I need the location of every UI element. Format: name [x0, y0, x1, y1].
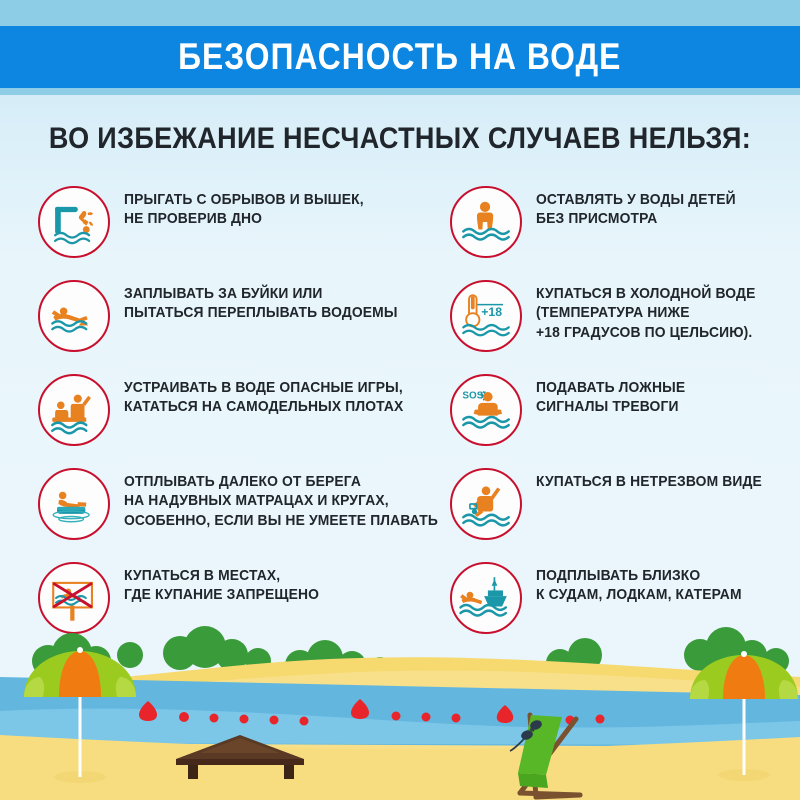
inflatable-mattress-icon	[38, 468, 110, 540]
left-column: ПРЫГАТЬ С ОБРЫВОВ И ВЫШЕК, НЕ ПРОВЕРИВ Д…	[38, 186, 408, 656]
list-item-text: ОСТАВЛЯТЬ У ВОДЫ ДЕТЕЙ БЕЗ ПРИСМОТРА	[536, 186, 736, 230]
top-strip	[0, 0, 800, 26]
list-item-text: КУПАТЬСЯ В НЕТРЕЗВОМ ВИДЕ	[536, 468, 762, 492]
list-item-text: ПОДАВАТЬ ЛОЖНЫЕ СИГНАЛЫ ТРЕВОГИ	[536, 374, 685, 418]
dangerous-games-raft-icon	[38, 374, 110, 446]
near-boats-icon	[450, 562, 522, 634]
list-item-text: ПРЫГАТЬ С ОБРЫВОВ И ВЫШЕК, НЕ ПРОВЕРИВ Д…	[124, 186, 364, 230]
beach-scene-illustration	[0, 625, 800, 800]
list-item: ОТПЛЫВАТЬ ДАЛЕКО ОТ БЕРЕГА НА НАДУВНЫХ М…	[38, 468, 408, 562]
list-item-text: КУПАТЬСЯ В ХОЛОДНОЙ ВОДЕ (ТЕМПЕРАТУРА НИ…	[536, 280, 755, 343]
list-item-text: ПОДПЛЫВАТЬ БЛИЗКО К СУДАМ, ЛОДКАМ, КАТЕР…	[536, 562, 742, 606]
thermometer-value: +18	[481, 305, 502, 319]
no-swimming-sign-icon	[38, 562, 110, 634]
title-banner: БЕЗОПАСНОСТЬ НА ВОДЕ	[0, 26, 800, 88]
list-item-text: КУПАТЬСЯ В МЕСТАХ, ГДЕ КУПАНИЕ ЗАПРЕЩЕНО	[124, 562, 319, 606]
list-item-text: ЗАПЛЫВАТЬ ЗА БУЙКИ ИЛИ ПЫТАТЬСЯ ПЕРЕПЛЫВ…	[124, 280, 398, 324]
false-alarm-sos-icon: SOS!	[450, 374, 522, 446]
jump-from-cliff-icon	[38, 186, 110, 258]
list-item: ЗАПЛЫВАТЬ ЗА БУЙКИ ИЛИ ПЫТАТЬСЯ ПЕРЕПЛЫВ…	[38, 280, 408, 374]
list-item: +18 КУПАТЬСЯ В ХОЛОДНОЙ ВОДЕ (ТЕМПЕРАТУР…	[450, 280, 800, 374]
drunk-swimming-icon	[450, 468, 522, 540]
right-column: ОСТАВЛЯТЬ У ВОДЫ ДЕТЕЙ БЕЗ ПРИСМОТРА +18	[450, 186, 800, 656]
subtitle: ВО ИЗБЕЖАНИЕ НЕСЧАСТНЫХ СЛУЧАЕВ НЕЛЬЗЯ:	[40, 122, 760, 156]
swim-past-buoys-icon	[38, 280, 110, 352]
list-item: УСТРАИВАТЬ В ВОДЕ ОПАСНЫЕ ИГРЫ, КАТАТЬСЯ…	[38, 374, 408, 468]
thermometer-cold-water-icon: +18	[450, 280, 522, 352]
list-item: ПРЫГАТЬ С ОБРЫВОВ И ВЫШЕК, НЕ ПРОВЕРИВ Д…	[38, 186, 408, 280]
list-item: SOS!	[450, 374, 800, 468]
poster-root: БЕЗОПАСНОСТЬ НА ВОДЕ ВО ИЗБЕЖАНИЕ НЕСЧАС…	[0, 0, 800, 800]
list-item: ОСТАВЛЯТЬ У ВОДЫ ДЕТЕЙ БЕЗ ПРИСМОТРА	[450, 186, 800, 280]
list-item: КУПАТЬСЯ В НЕТРЕЗВОМ ВИДЕ	[450, 468, 800, 562]
list-item-text: ОТПЛЫВАТЬ ДАЛЕКО ОТ БЕРЕГА НА НАДУВНЫХ М…	[124, 468, 438, 531]
list-item-text: УСТРАИВАТЬ В ВОДЕ ОПАСНЫЕ ИГРЫ, КАТАТЬСЯ…	[124, 374, 403, 418]
page-title: БЕЗОПАСНОСТЬ НА ВОДЕ	[178, 36, 621, 78]
banner-underline	[0, 88, 800, 95]
child-unattended-icon	[450, 186, 522, 258]
